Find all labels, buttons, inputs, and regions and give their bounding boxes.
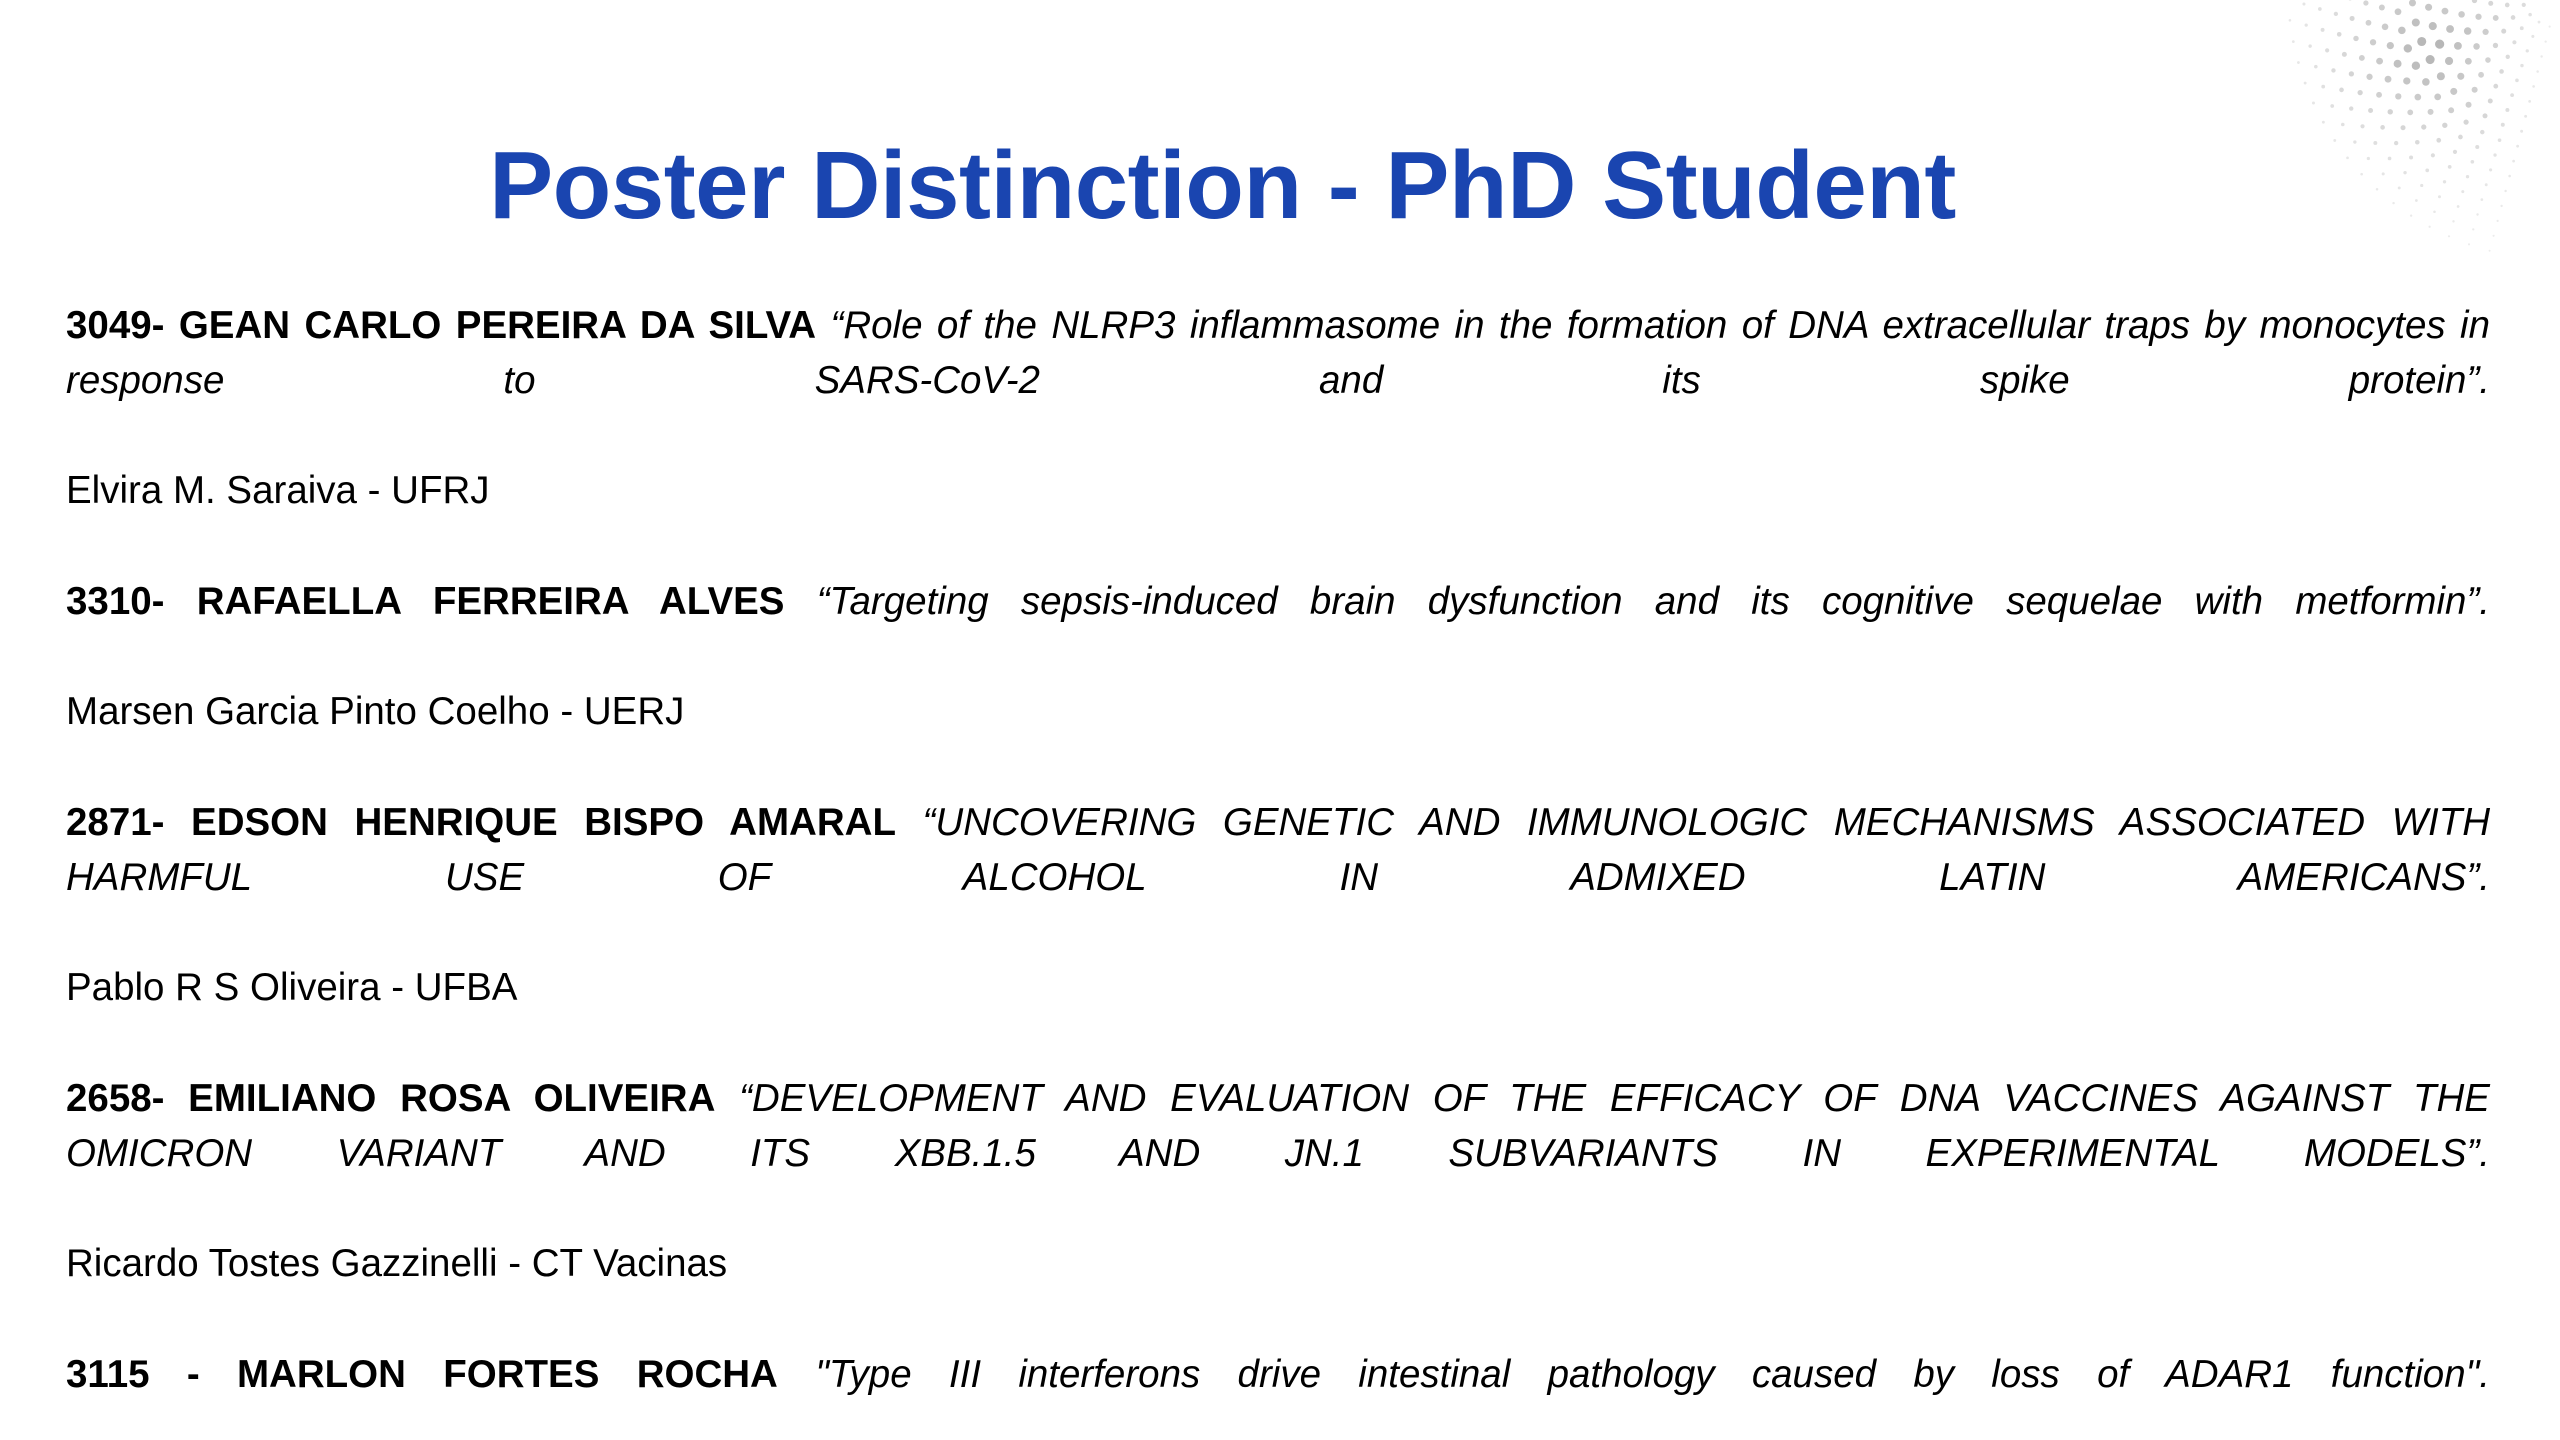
award-entry: 2658- EMILIANO ROSA OLIVEIRA “DEVELOPMEN… — [66, 1071, 2490, 1291]
award-entry: 3049- GEAN CARLO PEREIRA DA SILVA “Role … — [66, 298, 2490, 518]
page-title: Poster Distinction - PhD Student — [489, 136, 1956, 237]
award-code-and-name: 2871- EDSON HENRIQUE BISPO AMARAL — [66, 801, 896, 844]
award-advisor-affiliation: Pablo R S Oliveira - UFBA — [66, 960, 2490, 1015]
award-entry: 2871- EDSON HENRIQUE BISPO AMARAL “UNCOV… — [66, 795, 2490, 1015]
award-entry: 3310- RAFAELLA FERREIRA ALVES “Targeting… — [66, 574, 2490, 739]
award-advisor-affiliation: Elvira M. Saraiva - UFRJ — [66, 463, 2490, 518]
award-entry-headline: 3049- GEAN CARLO PEREIRA DA SILVA “Role … — [66, 298, 2490, 463]
award-code-and-name: 3049- GEAN CARLO PEREIRA DA SILVA — [66, 304, 816, 347]
award-code-and-name: 2658- EMILIANO ROSA OLIVEIRA — [66, 1077, 715, 1120]
award-paper-title: "Type III interferons drive intestinal p… — [815, 1353, 2490, 1396]
award-code-and-name: 3310- RAFAELLA FERREIRA ALVES — [66, 580, 784, 623]
award-entry-headline: 2871- EDSON HENRIQUE BISPO AMARAL “UNCOV… — [66, 795, 2490, 960]
award-entry-headline: 2658- EMILIANO ROSA OLIVEIRA “DEVELOPMEN… — [66, 1071, 2490, 1236]
title-container: Poster Distinction - PhD Student — [0, 72, 2445, 301]
award-entry-headline: 3310- RAFAELLA FERREIRA ALVES “Targeting… — [66, 574, 2490, 684]
award-advisor-affiliation: Marsen Garcia Pinto Coelho - UERJ — [66, 684, 2490, 739]
award-advisor-affiliation: Ricardo Tostes Gazzinelli - CT Vacinas — [66, 1236, 2490, 1291]
award-entry-headline: 3115 - MARLON FORTES ROCHA "Type III int… — [66, 1347, 2490, 1440]
slide: Poster Distinction - PhD Student 3049- G… — [0, 0, 2560, 1440]
award-paper-title: “Targeting sepsis-induced brain dysfunct… — [817, 580, 2490, 623]
award-code-and-name: 3115 - MARLON FORTES ROCHA — [66, 1353, 778, 1396]
awards-list: 3049- GEAN CARLO PEREIRA DA SILVA “Role … — [66, 298, 2490, 1440]
award-entry: 3115 - MARLON FORTES ROCHA "Type III int… — [66, 1347, 2490, 1440]
